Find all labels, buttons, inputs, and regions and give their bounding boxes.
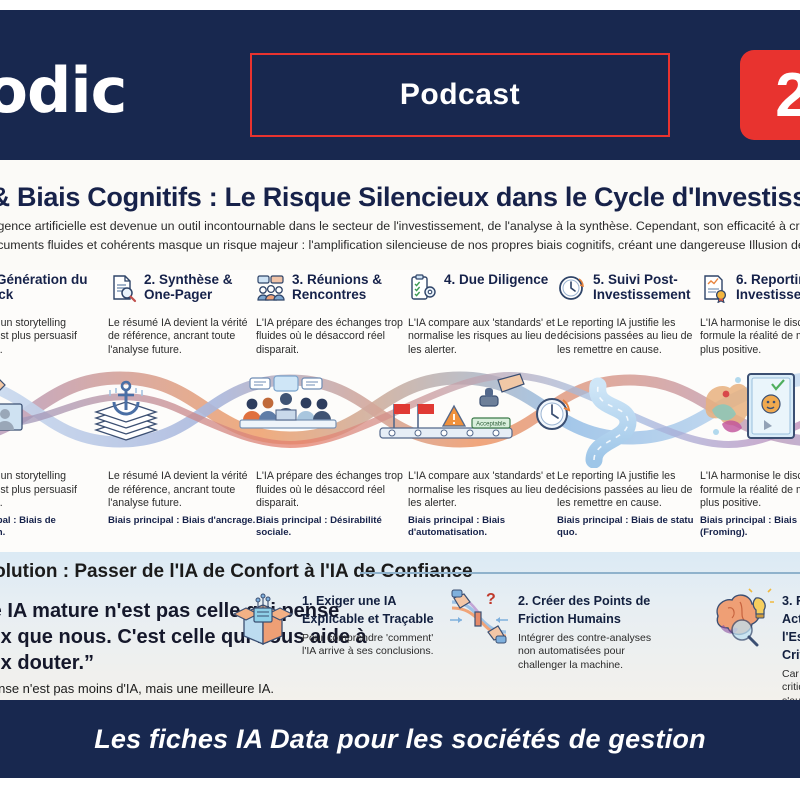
open-box-ai-chip-icon <box>232 586 294 648</box>
recommendation-2: ? 2. Créer des Points de Friction Humain… <box>448 586 653 672</box>
repeat-3-bias: Biais principal : Désirabilité sociale. <box>256 515 406 539</box>
step-2-title: 2. Synthèse & One-Pager <box>144 272 258 302</box>
repeat-6-description: L'IA harmonise le discours et formule la… <box>700 470 800 511</box>
recommendation-3-title: 3. Former Activement à l'Esprit Critique <box>782 594 800 662</box>
repeat-5-description: Le reporting IA justifie les décisions p… <box>557 470 707 511</box>
step-1-description: L'IA produit un storytelling parfait qui… <box>0 317 95 357</box>
repeat-4-bias: Biais principal : Biais d'automatisation… <box>408 515 558 539</box>
page-title: IA & Biais Cognitifs : Le Risque Silenci… <box>0 182 800 213</box>
infographic-page: bodic Podcast 2 IA & Biais Cognitifs : L… <box>0 0 800 800</box>
repeat-1-description: L'IA produit un storytelling parfait qui… <box>0 470 95 511</box>
repeat-item-5: Le reporting IA justifie les décisions p… <box>557 470 707 539</box>
intro-line-2: des documents fluides et cohérents masqu… <box>0 236 800 255</box>
document-magnifier-icon <box>108 273 138 303</box>
step-2-description: Le résumé IA devient la vérité de référe… <box>108 317 258 357</box>
header-bar: bodic Podcast 2 <box>0 10 800 160</box>
step-3-description: L'IA prépare des échanges trop fluides o… <box>256 317 406 357</box>
meeting-table-avatars-illustration <box>240 376 336 428</box>
repeat-item-1: L'IA produit un storytelling parfait qui… <box>0 470 95 539</box>
footer-bar: Les fiches IA Data pour les sociétés de … <box>0 700 800 778</box>
episode-number-badge: 2 <box>740 50 800 140</box>
repeat-5-bias: Biais principal : Biais de statu quo. <box>557 515 707 539</box>
title-section: IA & Biais Cognitifs : Le Risque Silenci… <box>0 160 800 270</box>
footer-text: Les fiches IA Data pour les sociétés de … <box>94 724 706 755</box>
step-6-title: 6. Reporting Investisseurs <box>736 272 800 302</box>
hands-friction-question-icon: ? <box>448 586 510 648</box>
repeat-6-bias: Biais principal : Biais de cadrage (From… <box>700 515 800 539</box>
repeat-item-6: L'IA harmonise le discours et formule la… <box>700 470 800 539</box>
recommendation-1-description: Pour comprendre 'comment' l'IA arrive à … <box>302 632 437 659</box>
mirror-smiley-reflection-illustration <box>706 374 794 438</box>
step-5-title: 5. Suivi Post-Investissement <box>593 272 707 302</box>
brain-magnifier-bulb-icon <box>712 586 774 648</box>
recommendation-1-title: 1. Exiger une IA Explicable et Traçable <box>302 594 434 626</box>
clipboard-gear-icon <box>408 273 438 303</box>
repeat-item-4: L'IA compare aux 'standards' et normalis… <box>408 470 558 539</box>
episode-number: 2 <box>775 60 800 131</box>
repeat-item-2: Le résumé IA devient la vérité de référe… <box>108 470 258 527</box>
recommendation-1: 1. Exiger une IA Explicable et Traçable … <box>232 586 437 659</box>
step-3-title: 3. Réunions & Rencontres <box>292 272 406 302</box>
whiteboard-pencil-video-call-illustration <box>0 378 22 430</box>
podcast-button-label: Podcast <box>400 78 520 112</box>
step-4-title: 4. Due Diligence <box>444 272 548 287</box>
podcast-button[interactable]: Podcast <box>250 53 670 137</box>
cycle-illustration-band: Acceptable <box>0 360 800 468</box>
repeat-1-bias: Biais principal : Biais de présentation. <box>0 515 95 539</box>
top-margin <box>0 0 800 10</box>
repeat-3-description: L'IA prépare des échanges trop fluides o… <box>256 470 406 511</box>
clock-arrow-icon <box>557 273 587 303</box>
svg-text:?: ? <box>486 591 496 608</box>
step-card-2: 2. Synthèse & One-Pager Le résumé IA dev… <box>108 272 258 372</box>
people-chat-bubbles-icon <box>256 273 286 303</box>
bottom-margin <box>0 778 800 800</box>
report-award-ribbon-icon <box>700 273 730 303</box>
solution-divider <box>360 572 800 574</box>
solution-section: La Solution : Passer de l'IA de Confort … <box>0 552 800 700</box>
steps-repeat-row: L'IA produit un storytelling parfait qui… <box>0 470 800 550</box>
recommendation-2-title: 2. Créer des Points de Friction Humains <box>518 594 650 626</box>
repeat-2-description: Le résumé IA devient la vérité de référe… <box>108 470 258 511</box>
svg-text:Acceptable: Acceptable <box>476 422 506 428</box>
anchor-on-documents-illustration <box>96 382 156 440</box>
step-6-description: L'IA harmonise le discours et formule la… <box>700 317 800 357</box>
solution-quote-subtitle: La réponse n'est pas moins d'IA, mais un… <box>0 680 394 697</box>
brand-logo: bodic <box>0 60 126 122</box>
intro-paragraph: L'intelligence artificielle est devenue … <box>0 217 800 255</box>
step-5-description: Le reporting IA justifie les décisions p… <box>557 317 707 357</box>
steps-row: 1. Génération du Deck L'IA produit un st… <box>0 272 800 362</box>
repeat-2-bias: Biais principal : Biais d'ancrage. <box>108 515 258 527</box>
repeat-item-3: L'IA prépare des échanges trop fluides o… <box>256 470 406 539</box>
step-1-title: 1. Génération du Deck <box>0 272 95 302</box>
step-4-description: L'IA compare aux 'standards' et normalis… <box>408 317 558 357</box>
intro-line-1: L'intelligence artificielle est devenue … <box>0 217 800 236</box>
recommendation-2-description: Intégrer des contre-analyses non automat… <box>518 632 653 672</box>
repeat-4-description: L'IA compare aux 'standards' et normalis… <box>408 470 558 511</box>
